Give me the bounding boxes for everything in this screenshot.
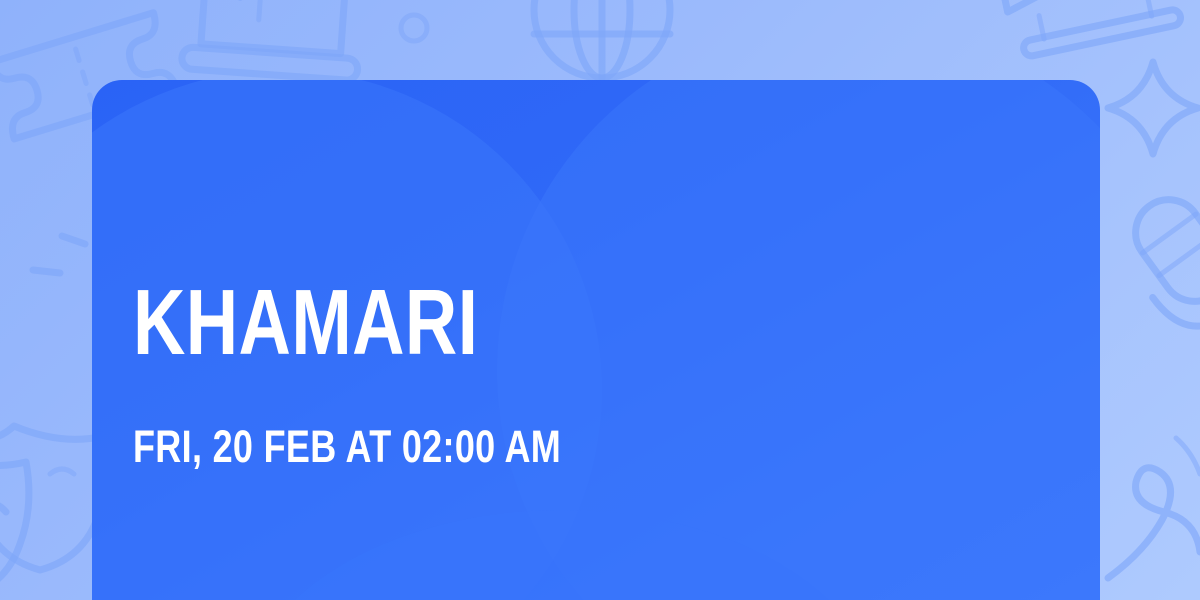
laptop-icon: [181, 0, 363, 81]
sparkle-icon: [1108, 62, 1198, 154]
event-card[interactable]: KHAMARI FRI, 20 FEB AT 02:00 AM: [92, 80, 1100, 600]
dash-stroke-icon: [33, 236, 85, 273]
event-title: KHAMARI: [133, 276, 478, 369]
theater-masks-icon: [0, 426, 107, 598]
banner-icon: [996, 0, 1184, 59]
event-datetime: FRI, 20 FEB AT 02:00 AM: [133, 424, 561, 469]
microphone-icon: [1108, 176, 1200, 372]
globe-icon: [534, 0, 670, 78]
event-banner: KHAMARI FRI, 20 FEB AT 02:00 AM: [0, 0, 1200, 600]
circle-dot-icon: [401, 15, 427, 41]
squiggle-line-icon: [1108, 438, 1200, 578]
